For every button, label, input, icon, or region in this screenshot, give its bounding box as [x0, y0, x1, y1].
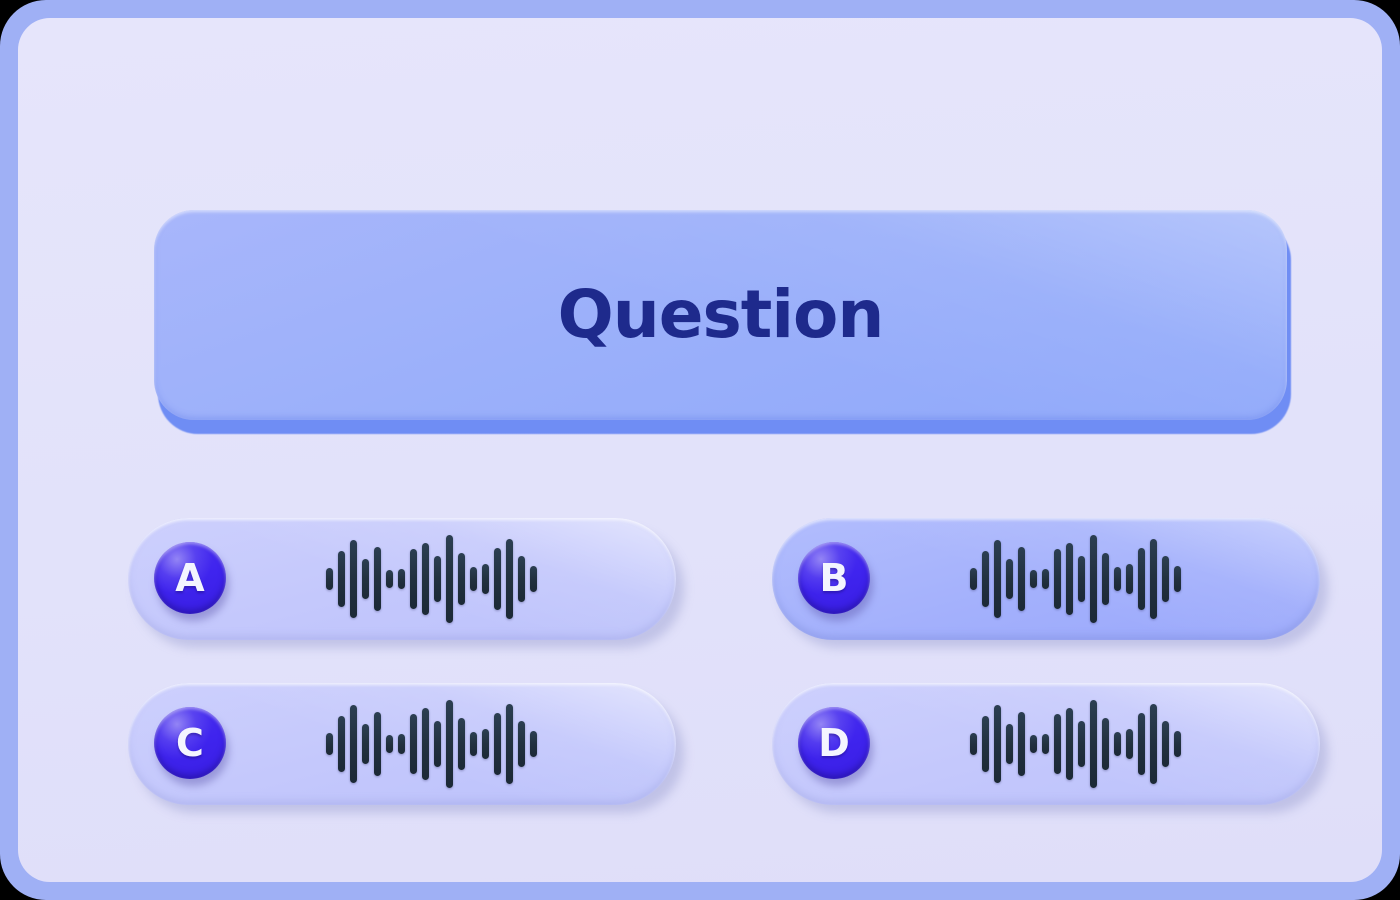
wave-bar: [518, 556, 525, 602]
option-b-pill[interactable]: B: [772, 518, 1320, 640]
wave-bar: [1102, 718, 1109, 770]
wave-bar: [1030, 735, 1037, 753]
wave-bar: [446, 700, 453, 788]
wave-bar: [386, 735, 393, 753]
question-banner-surface: Question: [154, 210, 1287, 420]
question-banner: Question: [154, 210, 1291, 434]
wave-bar: [1066, 543, 1073, 615]
wave-bar: [506, 704, 513, 784]
option-b-badge-circle: B: [798, 542, 870, 614]
wave-bar: [338, 551, 345, 607]
wave-bar: [1090, 535, 1097, 623]
wave-bar: [338, 716, 345, 772]
wave-bar: [1090, 700, 1097, 788]
answer-option-c[interactable]: C: [128, 683, 684, 813]
wave-bar: [1054, 714, 1061, 774]
option-c-badge: C: [154, 707, 228, 781]
wave-bar: [350, 540, 357, 618]
option-c-badge-circle: C: [154, 707, 226, 779]
wave-bar: [434, 556, 441, 602]
wave-bar: [518, 721, 525, 767]
option-c-waveform-icon[interactable]: [326, 696, 537, 792]
wave-bar: [326, 568, 333, 590]
wave-bar: [1138, 548, 1145, 610]
option-a-pill[interactable]: A: [128, 518, 676, 640]
option-a-badge-circle: A: [154, 542, 226, 614]
wave-bar: [398, 734, 405, 754]
wave-bar: [362, 724, 369, 764]
wave-bar: [1066, 708, 1073, 780]
wave-bar: [506, 539, 513, 619]
wave-bar: [1078, 556, 1085, 602]
wave-bar: [362, 559, 369, 599]
wave-bar: [326, 733, 333, 755]
wave-bar: [1006, 724, 1013, 764]
wave-bar: [446, 535, 453, 623]
wave-bar: [410, 549, 417, 609]
wave-bar: [1018, 712, 1025, 776]
wave-bar: [398, 569, 405, 589]
answer-options-grid: A B: [128, 518, 1308, 813]
wave-bar: [970, 568, 977, 590]
wave-bar: [1042, 569, 1049, 589]
wave-bar: [482, 729, 489, 759]
wave-bar: [1054, 549, 1061, 609]
wave-bar: [434, 721, 441, 767]
wave-bar: [1078, 721, 1085, 767]
wave-bar: [458, 718, 465, 770]
option-c-letter: C: [176, 724, 204, 762]
answer-option-b[interactable]: B: [772, 518, 1328, 648]
wave-bar: [1126, 564, 1133, 594]
option-a-letter: A: [175, 559, 204, 597]
answer-option-a[interactable]: A: [128, 518, 684, 648]
question-title: Question: [558, 282, 884, 348]
option-d-letter: D: [818, 724, 850, 762]
wave-bar: [494, 548, 501, 610]
option-c-pill[interactable]: C: [128, 683, 676, 805]
option-b-letter: B: [820, 559, 849, 597]
option-d-badge: D: [798, 707, 872, 781]
wave-bar: [530, 566, 537, 592]
option-a-waveform-icon[interactable]: [326, 531, 537, 627]
wave-bar: [994, 540, 1001, 618]
wave-bar: [374, 547, 381, 611]
option-d-badge-circle: D: [798, 707, 870, 779]
wave-bar: [1018, 547, 1025, 611]
wave-bar: [994, 705, 1001, 783]
wave-bar: [494, 713, 501, 775]
wave-bar: [1162, 721, 1169, 767]
wave-bar: [1030, 570, 1037, 588]
wave-bar: [982, 551, 989, 607]
wave-bar: [1006, 559, 1013, 599]
wave-bar: [422, 708, 429, 780]
wave-bar: [1150, 539, 1157, 619]
wave-bar: [350, 705, 357, 783]
wave-bar: [1150, 704, 1157, 784]
wave-bar: [410, 714, 417, 774]
answer-option-d[interactable]: D: [772, 683, 1328, 813]
option-b-waveform-icon[interactable]: [970, 531, 1181, 627]
wave-bar: [1162, 556, 1169, 602]
wave-bar: [422, 543, 429, 615]
wave-bar: [386, 570, 393, 588]
option-a-badge: A: [154, 542, 228, 616]
wave-bar: [1102, 553, 1109, 605]
option-d-waveform-icon[interactable]: [970, 696, 1181, 792]
wave-bar: [482, 564, 489, 594]
wave-bar: [470, 567, 477, 591]
wave-bar: [982, 716, 989, 772]
option-b-badge: B: [798, 542, 872, 616]
wave-bar: [1174, 566, 1181, 592]
wave-bar: [458, 553, 465, 605]
wave-bar: [1114, 732, 1121, 756]
option-d-pill[interactable]: D: [772, 683, 1320, 805]
wave-bar: [1126, 729, 1133, 759]
wave-bar: [470, 732, 477, 756]
wave-bar: [1042, 734, 1049, 754]
wave-bar: [374, 712, 381, 776]
quiz-card-panel: Question A: [18, 18, 1382, 882]
wave-bar: [1114, 567, 1121, 591]
wave-bar: [970, 733, 977, 755]
wave-bar: [1174, 731, 1181, 757]
wave-bar: [530, 731, 537, 757]
quiz-card-frame: Question A: [0, 0, 1400, 900]
wave-bar: [1138, 713, 1145, 775]
